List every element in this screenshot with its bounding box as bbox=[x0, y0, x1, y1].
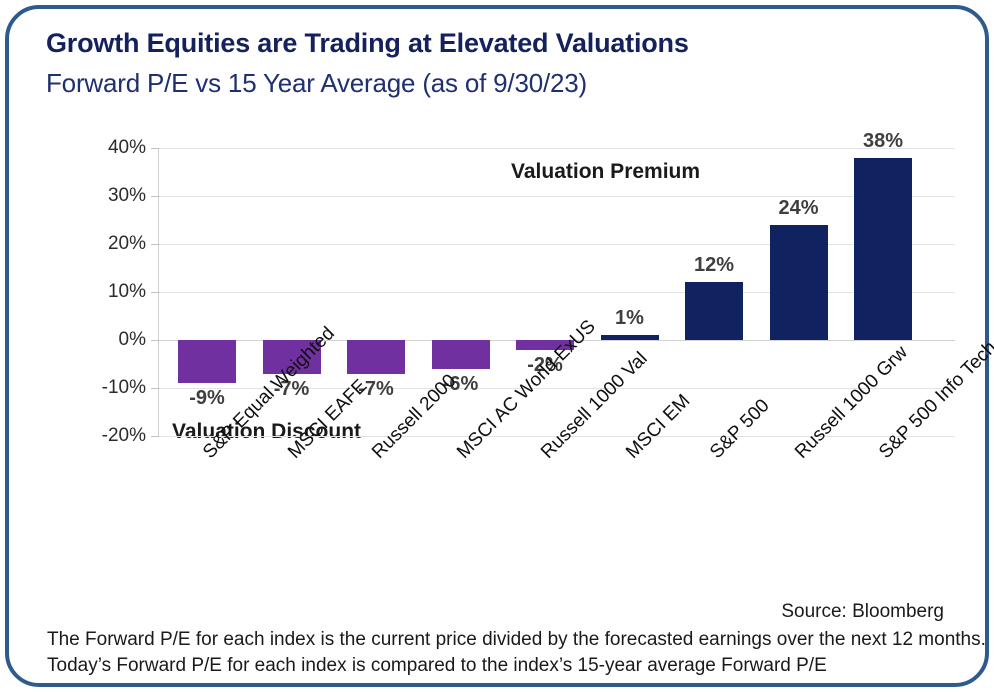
x-axis-category-label: S&P 500 bbox=[706, 395, 774, 463]
slide-canvas: Growth Equities are Trading at Elevated … bbox=[0, 0, 994, 692]
y-axis-tick bbox=[151, 340, 159, 341]
x-axis-category-label: MSCI EM bbox=[622, 391, 695, 464]
footnote-line-1: The Forward P/E for each index is the cu… bbox=[47, 629, 986, 651]
x-axis-category-label: Russell 2000 bbox=[368, 370, 461, 463]
footnote-line-2: Today’s Forward P/E for each index is co… bbox=[47, 655, 827, 677]
x-axis-labels: S&P Equal WeightedMSCI EAFERussell 2000M… bbox=[0, 0, 994, 692]
x-axis-category-label: MSCI AC World ExUS bbox=[453, 316, 600, 463]
y-axis-tick bbox=[151, 292, 159, 293]
y-axis-tick bbox=[151, 148, 159, 149]
y-axis-tick bbox=[151, 436, 159, 437]
y-axis-tick bbox=[151, 388, 159, 389]
y-axis-tick bbox=[151, 244, 159, 245]
source-credit: Source: Bloomberg bbox=[781, 601, 944, 623]
y-axis-tick bbox=[151, 196, 159, 197]
x-axis-category-label: MSCI EAFE bbox=[284, 376, 372, 464]
